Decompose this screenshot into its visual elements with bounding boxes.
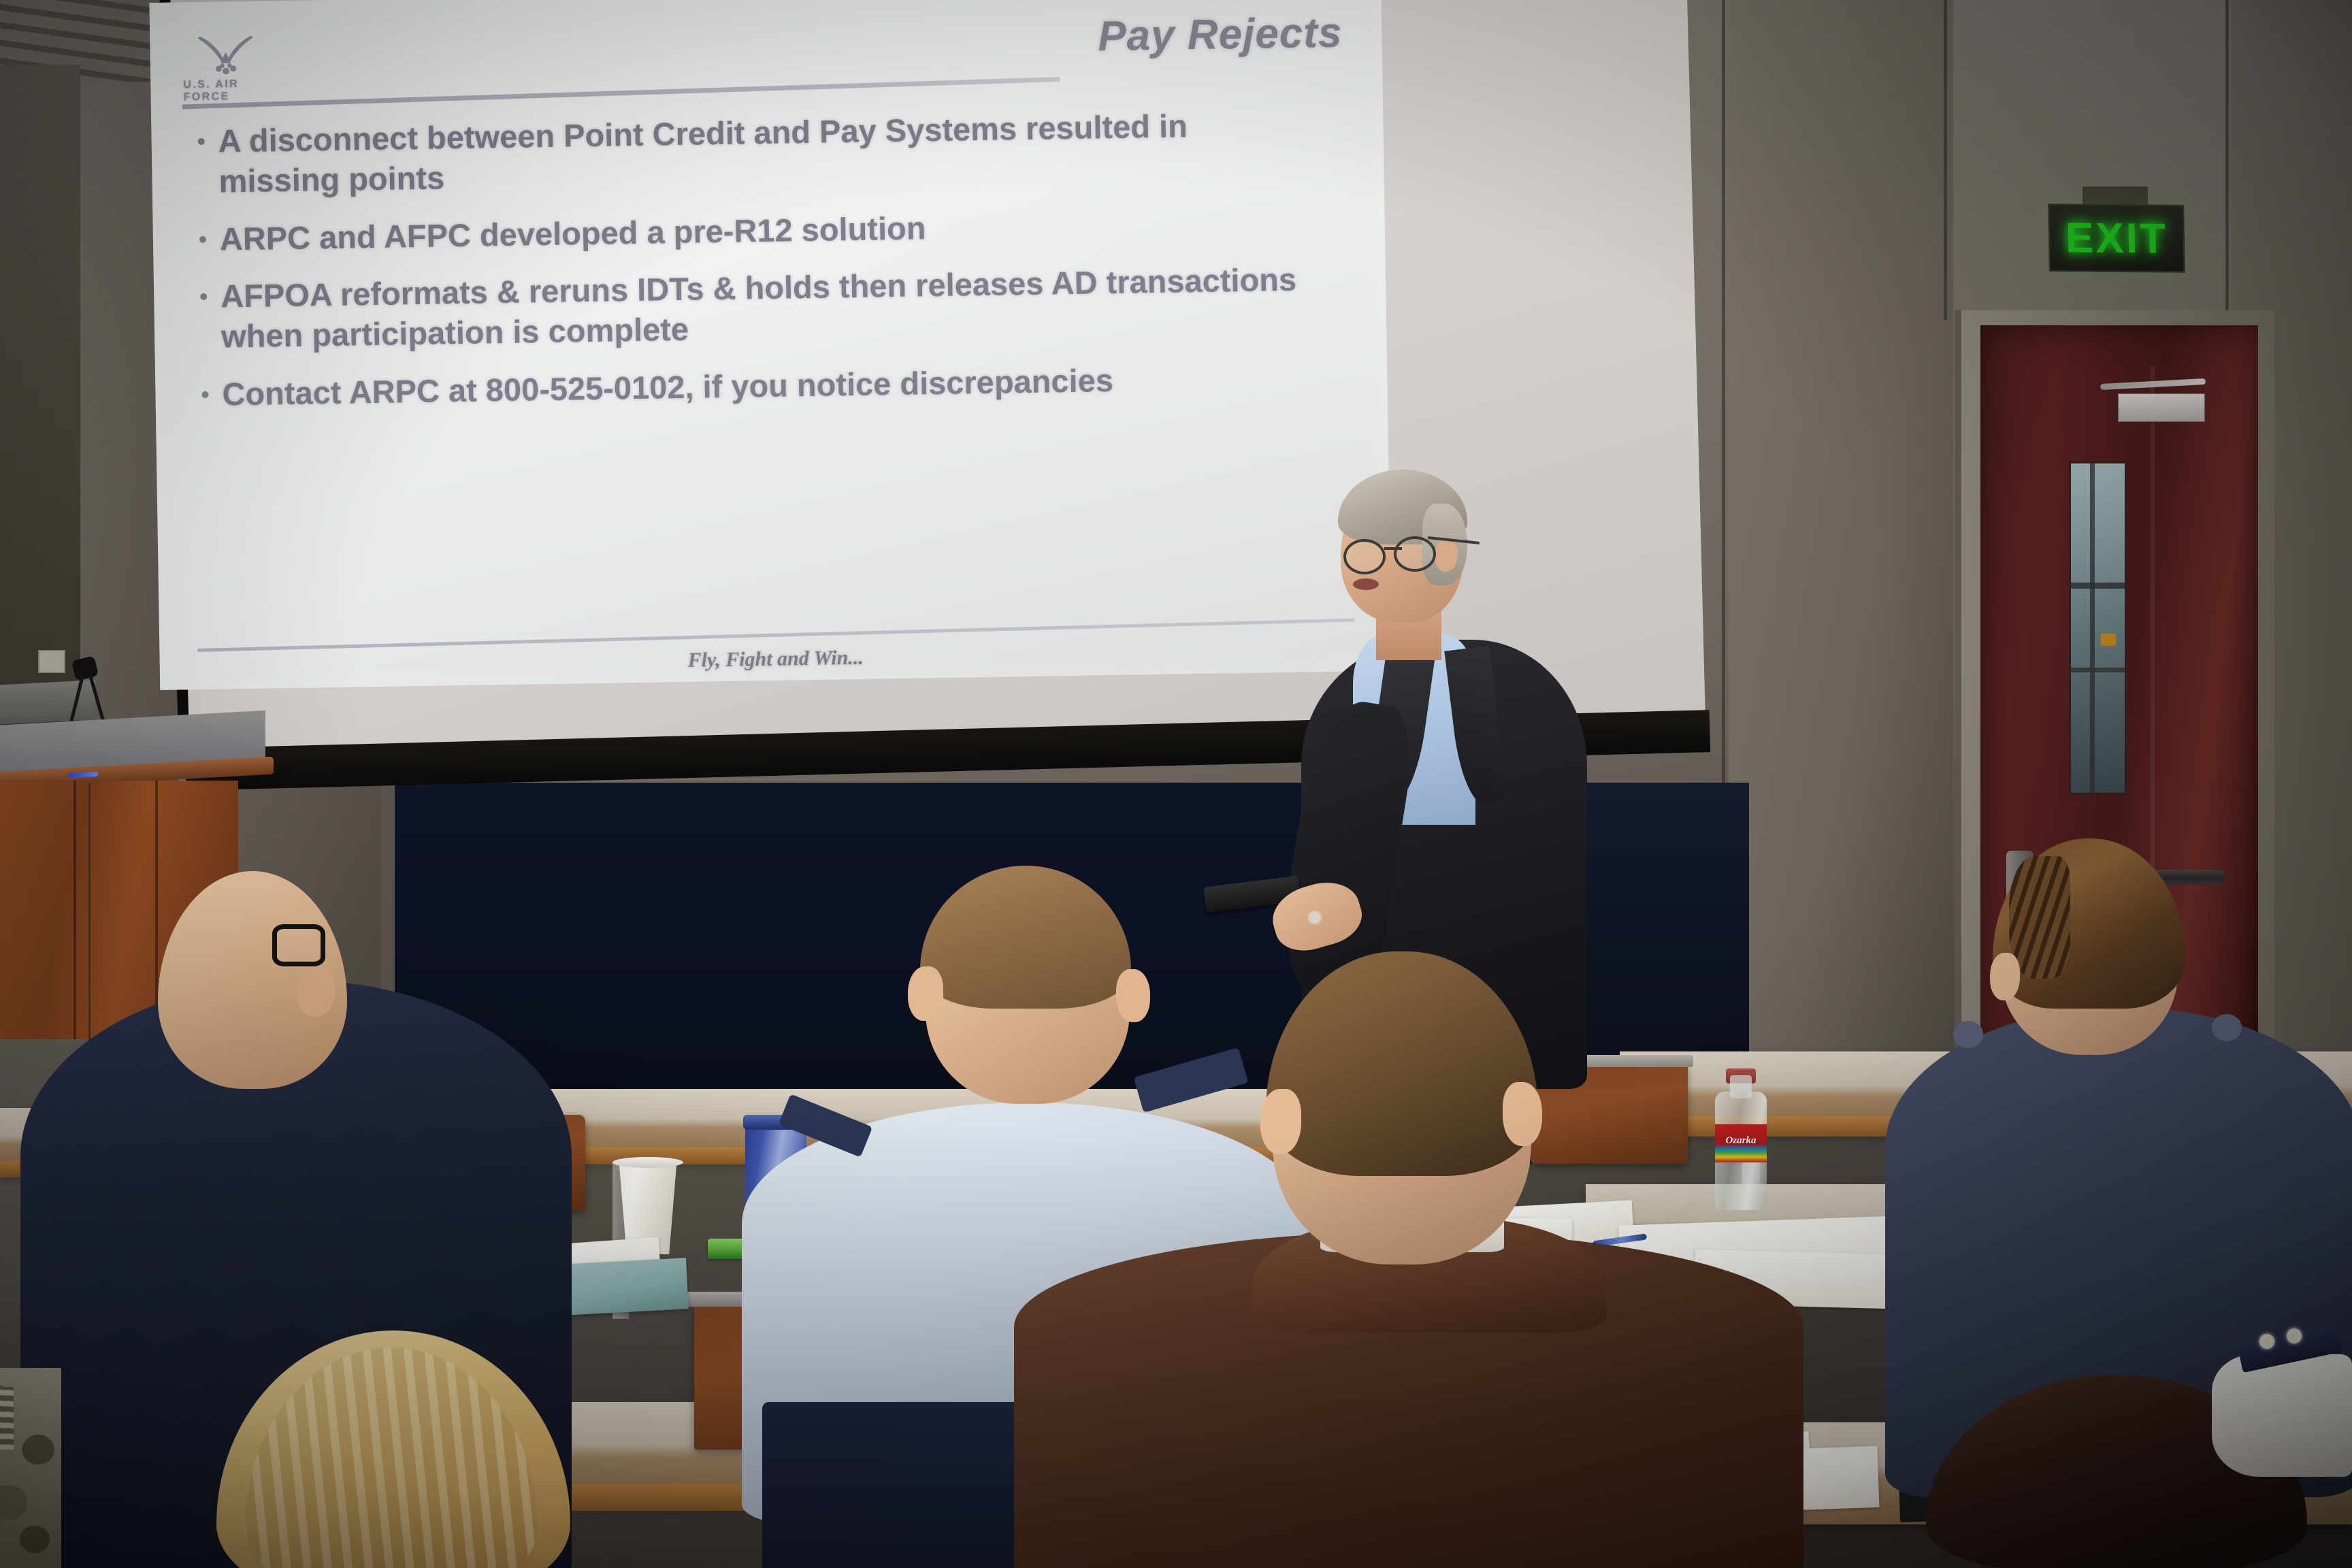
air-force-logo-text: U.S. AIR FORCE xyxy=(183,78,289,103)
slide-bullet-text: A disconnect between Point Credit and Pa… xyxy=(218,104,1308,201)
window-amber-reflection xyxy=(2101,634,2116,646)
slide-bullet-text: AFPOA reformats & reruns IDTs & holds th… xyxy=(220,260,1311,357)
slide-bullet: Contact ARPC at 800-525-0102, if you not… xyxy=(196,357,1355,414)
slide-bullet: ARPC and AFPC developed a pre-R12 soluti… xyxy=(193,201,1352,259)
right-wall-column xyxy=(1729,0,1953,1062)
eyeglasses-icon xyxy=(272,924,325,966)
eyeglasses-icon xyxy=(1343,539,1386,574)
slide-title: Pay Rejects xyxy=(1098,9,1343,61)
bullet-dot-icon xyxy=(199,235,206,242)
attendee-ear xyxy=(297,966,335,1017)
attendee-ear xyxy=(1990,953,2020,1000)
slide-top-rule xyxy=(182,77,1060,110)
slide-bullet-text: Contact ARPC at 800-525-0102, if you not… xyxy=(222,361,1113,414)
water-bottle[interactable]: Ozarka xyxy=(1715,1074,1767,1210)
attendee-braid xyxy=(2009,856,2070,979)
lectern-panel-seam xyxy=(73,781,76,1039)
presenter-ring xyxy=(1309,912,1320,923)
sweater-shoulder-detail xyxy=(2212,1014,2242,1041)
bullet-dot-icon xyxy=(201,391,208,398)
exit-sign-mount xyxy=(2082,186,2148,206)
wall-seam xyxy=(1944,0,1947,320)
attendee-ear xyxy=(908,966,943,1021)
air-force-wings-icon xyxy=(188,34,263,78)
slide-bullet: A disconnect between Point Credit and Pa… xyxy=(192,103,1352,201)
slide-bullet-text: ARPC and AFPC developed a pre-R12 soluti… xyxy=(219,208,926,259)
eyeglasses-bridge xyxy=(1384,547,1402,550)
wall-outlet-plate xyxy=(38,650,65,673)
bullet-dot-icon xyxy=(198,138,205,145)
exit-sign-label: EXIT xyxy=(2065,214,2168,263)
exit-sign: EXIT xyxy=(2048,203,2185,273)
slide-bullet: AFPOA reformats & reruns IDTs & holds th… xyxy=(195,259,1354,357)
bottle-label: Ozarka xyxy=(1715,1124,1767,1162)
rank-insignia xyxy=(0,1387,14,1450)
briefing-room-photo: EXIT xyxy=(0,0,2352,1568)
bullet-dot-icon xyxy=(200,293,207,300)
sweater-shoulder-detail xyxy=(1953,1021,1983,1048)
attendee-ear xyxy=(1260,1089,1301,1154)
window-mullion-vertical xyxy=(2090,463,2095,793)
window-mullion-horizontal xyxy=(2071,668,2125,672)
air-force-logo: U.S. AIR FORCE xyxy=(178,33,288,98)
presenter-ear xyxy=(1435,539,1458,572)
projected-slide: U.S. AIR FORCE Pay Rejects A disconnect … xyxy=(149,0,1392,690)
eyeglasses-icon xyxy=(1394,536,1436,572)
attendee-ear xyxy=(1116,969,1150,1022)
door-vision-window xyxy=(2069,461,2127,795)
rank-insignia xyxy=(2259,1334,2274,1349)
foam-cup-rim xyxy=(612,1157,683,1168)
attendee-shoulder xyxy=(2212,1354,2352,1477)
window-mullion-horizontal xyxy=(2071,583,2125,589)
rank-insignia xyxy=(2287,1328,2302,1343)
left-wall-dark-panel xyxy=(0,65,80,732)
bottle-brand-text: Ozarka xyxy=(1725,1135,1756,1147)
lectern-cable xyxy=(88,783,91,1041)
door-closer-body xyxy=(2118,393,2205,422)
slide-bullet-list: A disconnect between Point Credit and Pa… xyxy=(192,103,1355,432)
attendee-ear xyxy=(1503,1082,1542,1146)
presenter-mouth xyxy=(1353,578,1379,590)
